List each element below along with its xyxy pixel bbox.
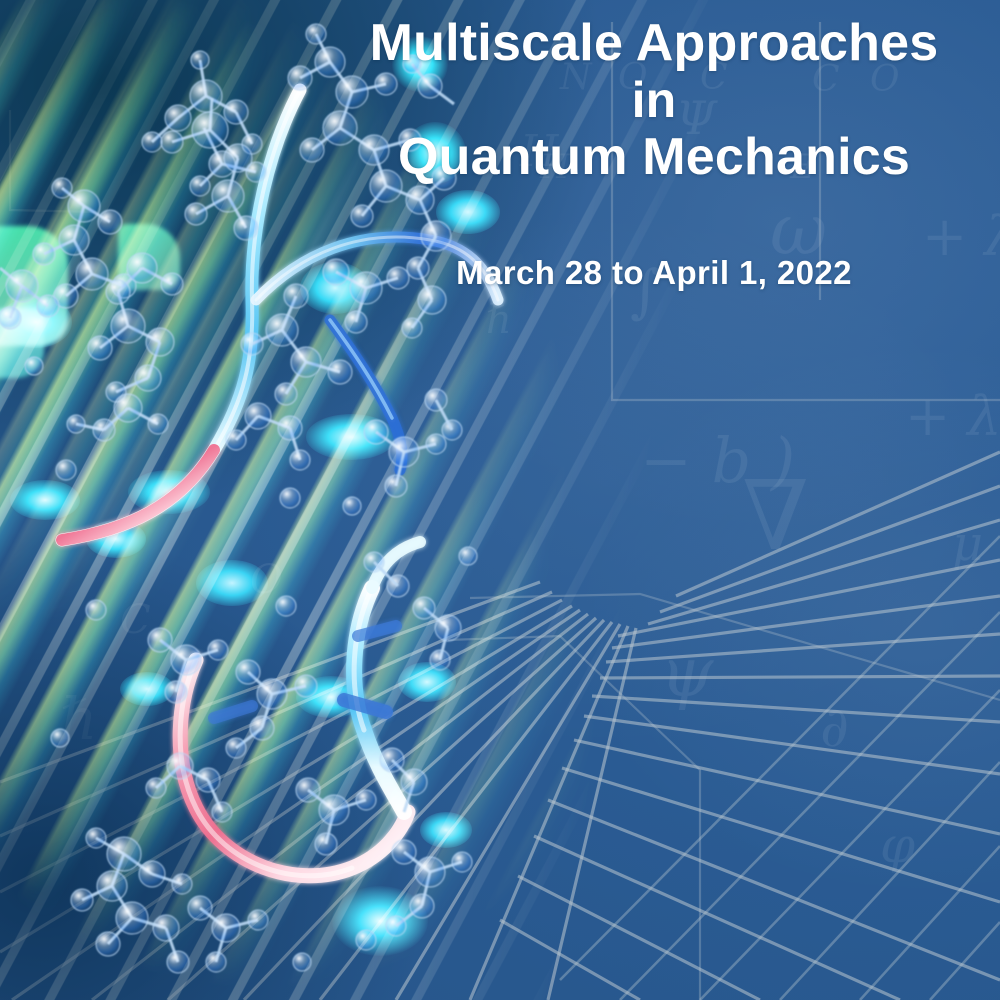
title-line-3: Quantum Mechanics xyxy=(324,128,984,186)
title-line-2: in xyxy=(324,72,984,128)
poster-canvas: ω + λ + λ − b ) Ψ H ∇ ∫ μ ℏ N O C C O H … xyxy=(0,0,1000,1000)
event-dates: March 28 to April 1, 2022 xyxy=(324,254,984,292)
title-block: Multiscale Approaches in Quantum Mechani… xyxy=(324,14,984,292)
title-line-1: Multiscale Approaches xyxy=(324,14,984,72)
